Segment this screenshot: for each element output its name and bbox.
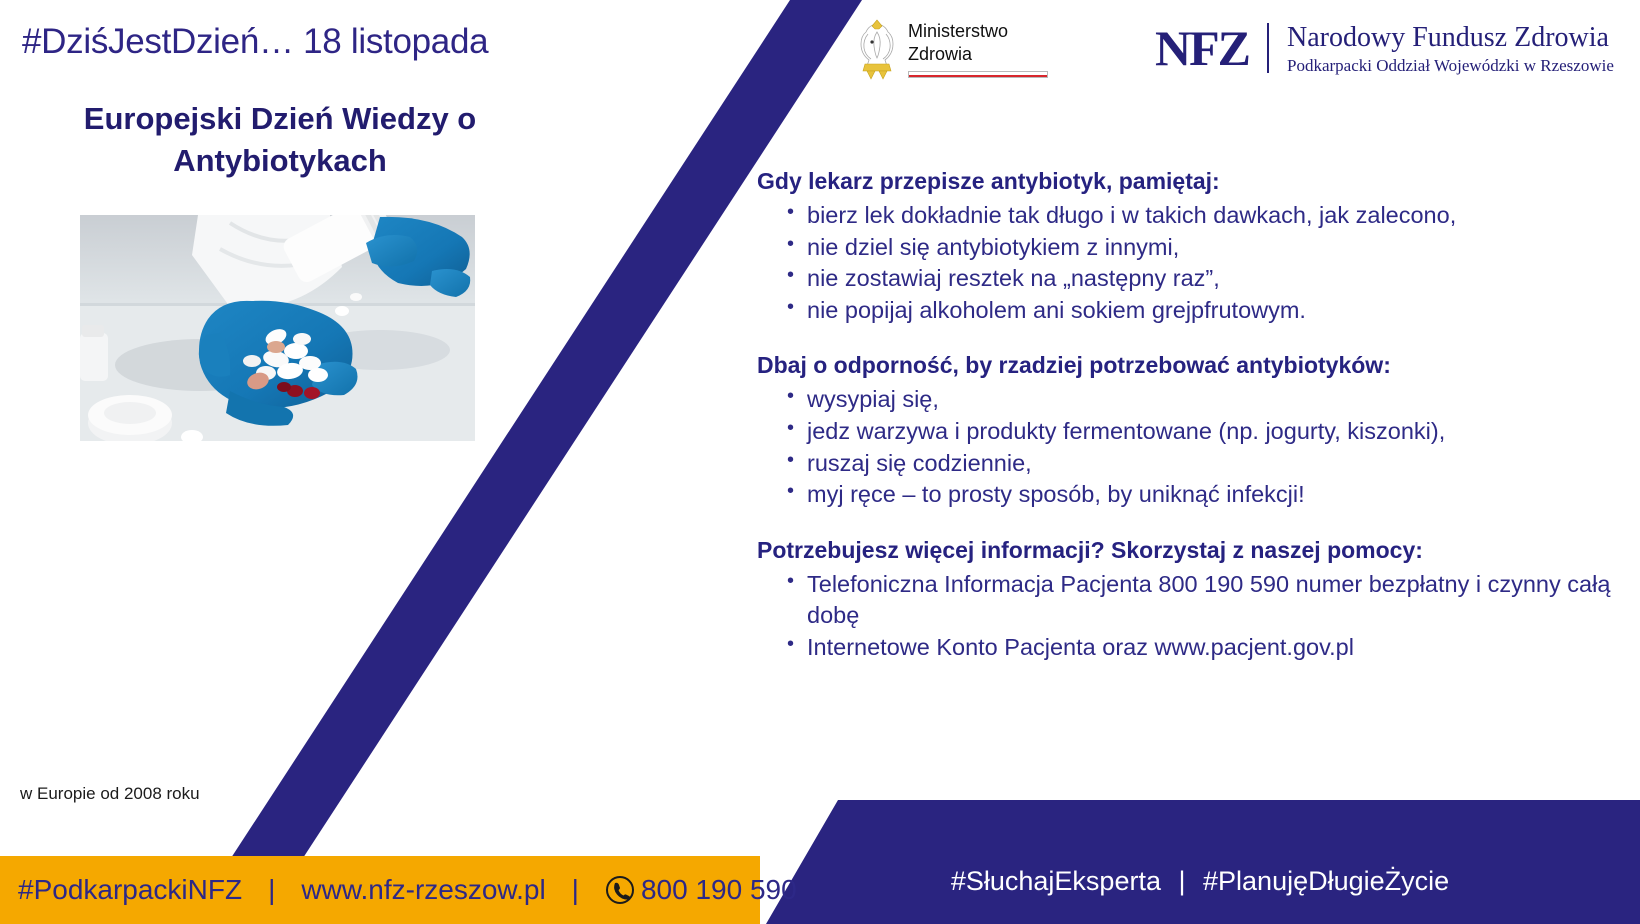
section-heading: Gdy lekarz przepisze antybiotyk, pamięta… bbox=[757, 168, 1637, 195]
content-column: Gdy lekarz przepisze antybiotyk, pamięta… bbox=[757, 168, 1637, 690]
bullet-list: wysypiaj się, jedz warzywa i produkty fe… bbox=[757, 384, 1637, 510]
campaign-hashtag-1: #SłuchajEksperta bbox=[951, 866, 1161, 896]
nfz-subtitle: Podkarpacki Oddział Wojewódzki w Rzeszow… bbox=[1287, 55, 1614, 76]
polish-eagle-icon bbox=[855, 18, 899, 80]
pills-photo bbox=[80, 215, 475, 441]
campaign-hashtag-2: #PlanujęDługieŻycie bbox=[1203, 866, 1449, 896]
since-note: w Europie od 2008 roku bbox=[20, 784, 200, 804]
logo-bar: Ministerstwo Zdrowia NFZ Narodowy Fundus… bbox=[845, 14, 1625, 90]
left-column: #DziśJestDzień… 18 listopada Europejski … bbox=[0, 0, 780, 800]
footer-website-link[interactable]: www.nfz-rzeszow.pl bbox=[301, 874, 545, 906]
nfz-divider bbox=[1267, 23, 1269, 73]
section-heading: Potrzebujesz więcej informacji? Skorzyst… bbox=[757, 537, 1637, 564]
pills-photo-illustration bbox=[80, 215, 475, 441]
nfz-title: Narodowy Fundusz Zdrowia bbox=[1287, 20, 1614, 55]
page-title: Europejski Dzień Wiedzy o Antybiotykach bbox=[50, 98, 510, 182]
ministry-of-health-logo: Ministerstwo Zdrowia bbox=[855, 18, 1008, 80]
nfz-logo: NFZ Narodowy Fundusz Zdrowia Podkarpacki… bbox=[1155, 20, 1614, 76]
list-item: Telefoniczna Informacja Pacjenta 800 190… bbox=[757, 569, 1637, 632]
section-more-information: Potrzebujesz więcej informacji? Skorzyst… bbox=[757, 537, 1637, 664]
ministry-line-1: Ministerstwo bbox=[908, 20, 1008, 43]
polish-flag-bar bbox=[908, 71, 1048, 78]
list-item: bierz lek dokładnie tak długo i w takich… bbox=[757, 200, 1637, 232]
footer-separator: | bbox=[572, 874, 579, 906]
section-heading: Dbaj o odporność, by rzadziej potrzebowa… bbox=[757, 352, 1637, 379]
list-item: nie zostawiaj resztek na „następny raz”, bbox=[757, 263, 1637, 295]
list-item: wysypiaj się, bbox=[757, 384, 1637, 416]
section-antibiotic-rules: Gdy lekarz przepisze antybiotyk, pamięta… bbox=[757, 168, 1637, 326]
bullet-list: Telefoniczna Informacja Pacjenta 800 190… bbox=[757, 569, 1637, 664]
campaign-separator: | bbox=[1168, 866, 1195, 896]
footer-separator: | bbox=[268, 874, 275, 906]
nfz-wordmark: NFZ bbox=[1155, 23, 1249, 73]
hashtag-date: #DziśJestDzień… 18 listopada bbox=[22, 22, 488, 62]
list-item: jedz warzywa i produkty fermentowane (np… bbox=[757, 416, 1637, 448]
phone-icon bbox=[605, 875, 635, 905]
footer-hashtag: #PodkarpackiNFZ bbox=[18, 874, 242, 906]
footer-contact-bar: #PodkarpackiNFZ | www.nfz-rzeszow.pl | 8… bbox=[0, 856, 760, 924]
list-item: Internetowe Konto Pacjenta oraz www.pacj… bbox=[757, 632, 1637, 664]
footer-campaign-bar: #SłuchajEksperta | #PlanujęDługieŻycie bbox=[760, 840, 1640, 924]
bullet-list: bierz lek dokładnie tak długo i w takich… bbox=[757, 200, 1637, 326]
list-item: nie popijaj alkoholem ani sokiem grejpfr… bbox=[757, 295, 1637, 327]
section-immunity-tips: Dbaj o odporność, by rzadziej potrzebowa… bbox=[757, 352, 1637, 510]
poster-root: #DziśJestDzień… 18 listopada Europejski … bbox=[0, 0, 1640, 924]
ministry-logo-text: Ministerstwo Zdrowia bbox=[908, 20, 1008, 78]
list-item: ruszaj się codziennie, bbox=[757, 448, 1637, 480]
list-item: myj ręce – to prosty sposób, by uniknąć … bbox=[757, 479, 1637, 511]
nfz-logo-text: Narodowy Fundusz Zdrowia Podkarpacki Odd… bbox=[1287, 20, 1614, 76]
ministry-line-2: Zdrowia bbox=[908, 43, 1008, 66]
list-item: nie dziel się antybiotykiem z innymi, bbox=[757, 232, 1637, 264]
